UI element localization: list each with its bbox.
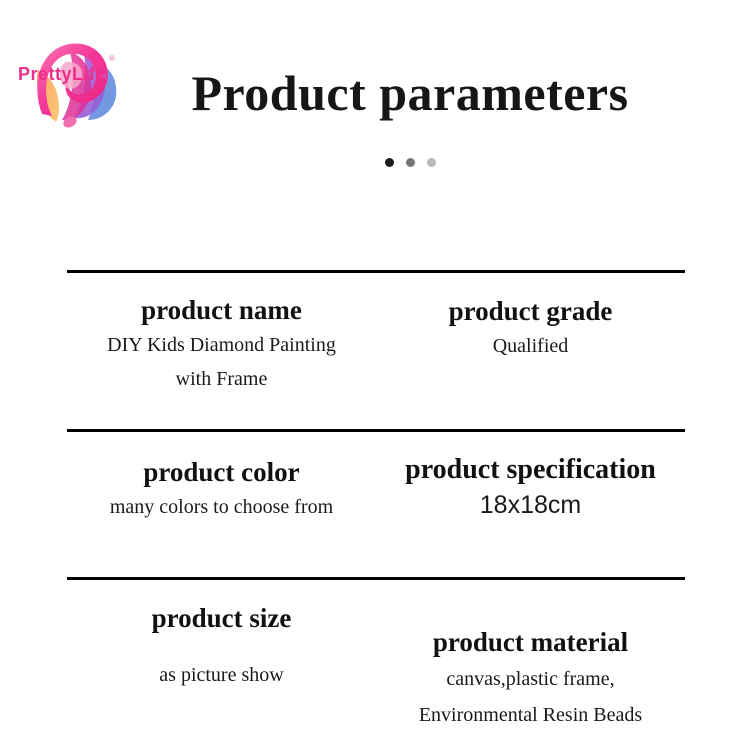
cell-product-specification: product specification 18x18cm bbox=[376, 432, 685, 577]
prettylife-p-logo-icon: PrettyLife bbox=[8, 18, 136, 130]
cell-value-line: many colors to choose from bbox=[67, 490, 376, 524]
cell-value-line: as picture show bbox=[67, 658, 376, 692]
cell-product-size: product size as picture show bbox=[67, 580, 376, 750]
cell-value-line: DIY Kids Diamond Painting bbox=[67, 328, 376, 362]
cell-value-line: Qualified bbox=[376, 329, 685, 363]
table-row: product name DIY Kids Diamond Painting w… bbox=[67, 273, 685, 429]
cell-product-material: product material canvas,plastic frame, E… bbox=[376, 580, 685, 750]
product-parameters-page: PrettyLife Product parameters product na… bbox=[0, 0, 750, 750]
cell-product-name: product name DIY Kids Diamond Painting w… bbox=[67, 273, 376, 429]
cell-product-grade: product grade Qualified bbox=[376, 273, 685, 429]
cell-label: product material bbox=[376, 626, 685, 660]
cell-label: product specification bbox=[376, 452, 685, 487]
page-title: Product parameters bbox=[175, 66, 645, 121]
table-row: product size as picture show product mat… bbox=[67, 580, 685, 750]
dot-third[interactable] bbox=[427, 158, 436, 167]
cell-label: product grade bbox=[376, 295, 685, 329]
dot-active[interactable] bbox=[385, 158, 394, 167]
cell-value-line: Environmental Resin Beads bbox=[376, 698, 685, 732]
spec-table: product name DIY Kids Diamond Painting w… bbox=[67, 270, 685, 750]
logo-wordmark: PrettyLife bbox=[18, 64, 106, 84]
cell-product-color: product color many colors to choose from bbox=[67, 432, 376, 577]
prettylife-logo[interactable]: PrettyLife bbox=[8, 18, 136, 130]
carousel-dots[interactable] bbox=[175, 158, 645, 167]
cell-label: product color bbox=[67, 456, 376, 490]
cell-value-line: canvas,plastic frame, bbox=[376, 662, 685, 696]
table-row: product color many colors to choose from… bbox=[67, 432, 685, 577]
cell-label: product size bbox=[67, 602, 376, 636]
cell-value-line: with Frame bbox=[67, 362, 376, 396]
cell-value-line: 18x18cm bbox=[376, 487, 685, 523]
cell-label: product name bbox=[67, 294, 376, 328]
dot-second[interactable] bbox=[406, 158, 415, 167]
